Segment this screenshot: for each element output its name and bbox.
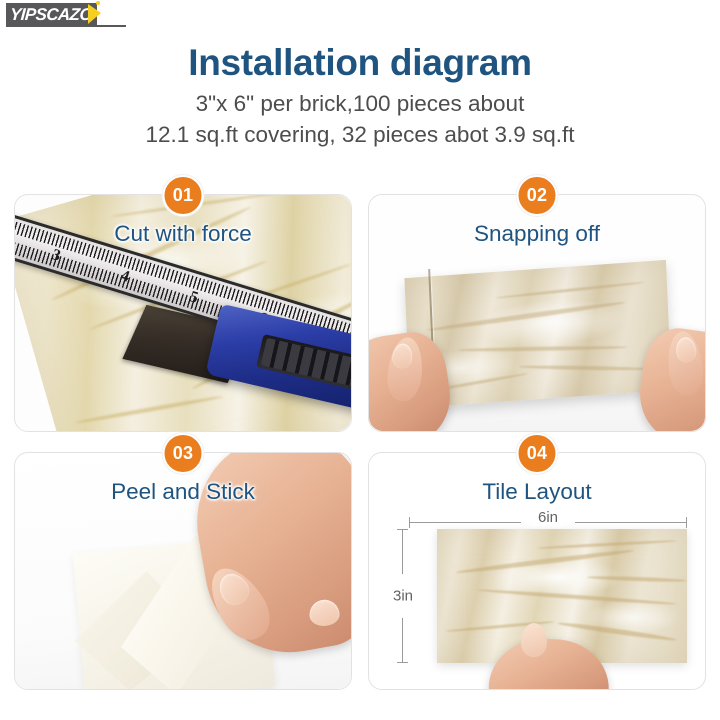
height-dimension-line: 3in [397, 529, 409, 663]
step-label-01: Cut with force [15, 221, 351, 247]
step-label-03: Peel and Stick [15, 479, 351, 505]
steps-grid: 3 4 5 6 01 Cut with force [14, 194, 706, 710]
step-panel-04: 6in 3in 04 Tile Layout [368, 452, 706, 690]
step-panel-03: 03 Peel and Stick [14, 452, 352, 690]
step-badge-02: 02 [517, 175, 558, 216]
step-badge-04: 04 [517, 433, 558, 474]
logo-badge: YIPSCAZO [6, 3, 97, 25]
subtitle-line-2: 12.1 sq.ft covering, 32 pieces abot 3.9 … [0, 120, 720, 150]
logo-text: YIPSCAZO [9, 6, 92, 23]
width-dimension-label: 6in [533, 509, 563, 526]
step-panel-01: 3 4 5 6 01 Cut with force [14, 194, 352, 432]
logo-arrow-icon [88, 4, 101, 24]
page-header: Installation diagram 3"x 6" per brick,10… [0, 42, 720, 150]
logo-underline [6, 25, 126, 27]
brand-logo: YIPSCAZO [6, 2, 97, 26]
step-panel-02: 02 Snapping off [368, 194, 706, 432]
page-title: Installation diagram [0, 42, 720, 83]
width-dimension-line: 6in [409, 517, 687, 529]
height-dimension-label: 3in [392, 585, 414, 608]
step-label-04: Tile Layout [369, 479, 705, 505]
thumbnail-graphic [521, 623, 547, 657]
step-label-02: Snapping off [369, 221, 705, 247]
step-badge-03: 03 [163, 433, 204, 474]
step-badge-01: 01 [163, 175, 204, 216]
page-subtitle: 3"x 6" per brick,100 pieces about 12.1 s… [0, 89, 720, 150]
subtitle-line-1: 3"x 6" per brick,100 pieces about [0, 89, 720, 119]
